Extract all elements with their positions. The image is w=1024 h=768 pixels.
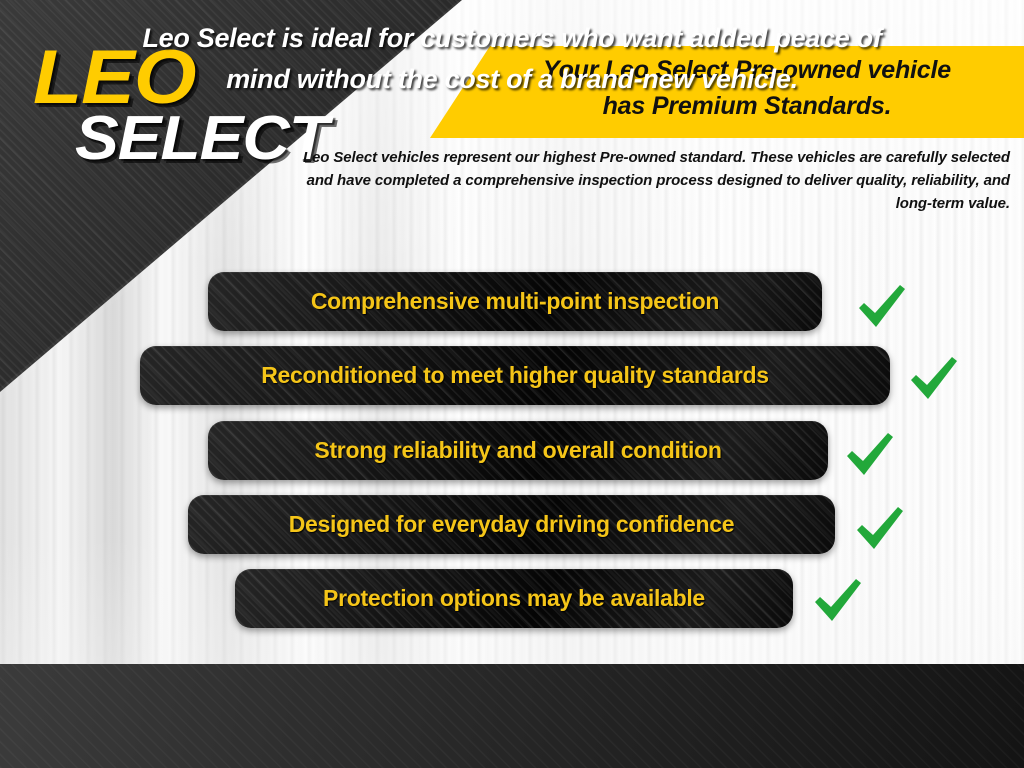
check-icon [853,280,909,332]
feature-label-4: Designed for everyday driving confidence [289,511,735,538]
check-icon [841,428,897,480]
feature-label-1: Comprehensive multi-point inspection [311,288,719,315]
logo-word-select: SELECT [75,108,328,170]
feature-pill-1: Comprehensive multi-point inspection [208,272,822,331]
feature-label-3: Strong reliability and overall condition [314,437,721,464]
footer-band [0,664,1024,768]
footer-line-1: Leo Select is ideal for customers who wa… [142,23,881,53]
feature-pill-3: Strong reliability and overall condition [208,421,828,480]
feature-label-2: Reconditioned to meet higher quality sta… [261,362,769,389]
leo-select-infographic: LEO SELECT Your Leo Select Pre-owned veh… [0,0,1024,768]
check-icon [809,574,865,626]
footer-message: Leo Select is ideal for customers who wa… [52,18,972,100]
feature-pill-2: Reconditioned to meet higher quality sta… [140,346,890,405]
check-icon [905,352,961,404]
check-icon [851,502,907,554]
feature-pill-4: Designed for everyday driving confidence [188,495,835,554]
footer-line-2: mind without the cost of a brand-new veh… [52,59,972,100]
feature-label-5: Protection options may be available [323,585,705,612]
feature-pill-5: Protection options may be available [235,569,793,628]
intro-paragraph: Leo Select vehicles represent our highes… [300,146,1010,215]
